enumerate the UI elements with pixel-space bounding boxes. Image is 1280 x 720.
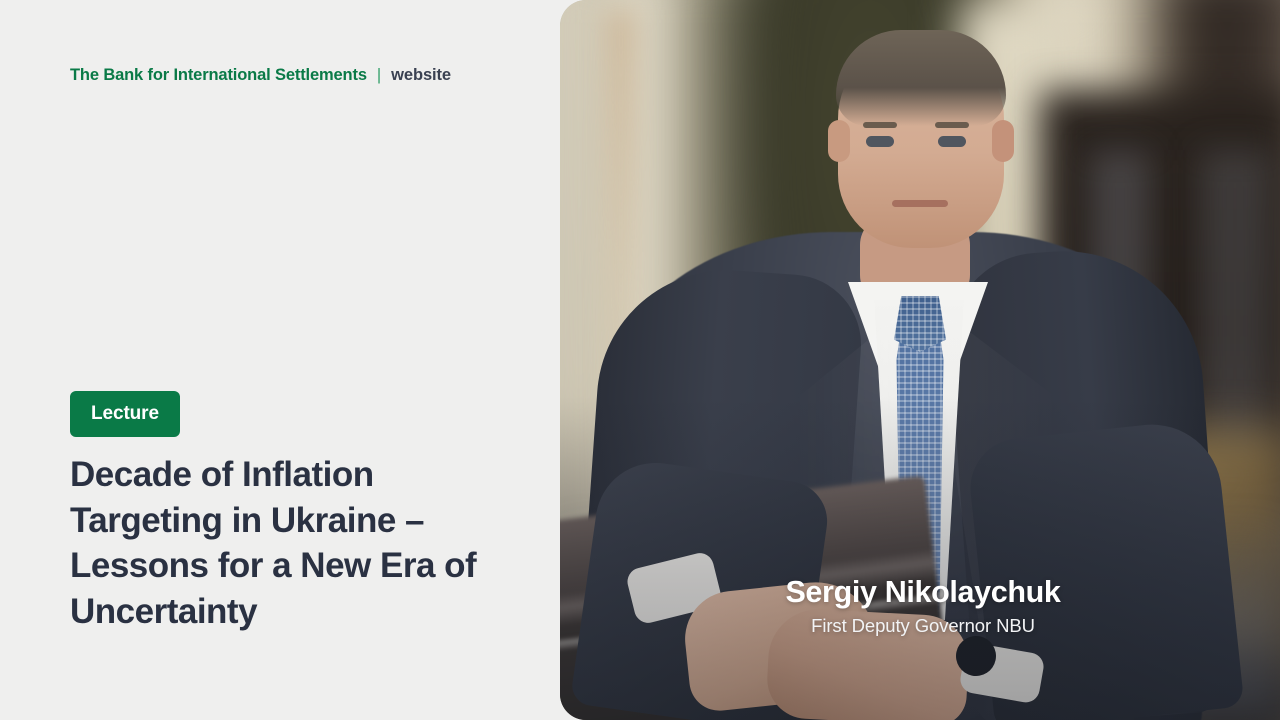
lecture-badge: Lecture	[70, 391, 180, 437]
brand-name: The Bank for International Settlements	[70, 66, 367, 85]
brand-website-link[interactable]: website	[391, 66, 451, 85]
speaker-caption: Sergiy Nikolaychuk First Deputy Governor…	[638, 574, 1208, 638]
brand-divider: |	[377, 66, 381, 85]
speaker-photo-panel: Sergiy Nikolaychuk First Deputy Governor…	[560, 0, 1280, 720]
speaker-name: Sergiy Nikolaychuk	[638, 574, 1208, 610]
brand-header: The Bank for International Settlements |…	[70, 66, 451, 85]
page-title: Decade of Inflation Targeting in Ukraine…	[70, 452, 500, 634]
lecture-promo-banner: The Bank for International Settlements |…	[0, 0, 1280, 720]
speaker-role: First Deputy Governor NBU	[638, 614, 1208, 638]
left-content-panel: The Bank for International Settlements |…	[0, 0, 560, 720]
lecture-badge-label: Lecture	[91, 403, 159, 425]
